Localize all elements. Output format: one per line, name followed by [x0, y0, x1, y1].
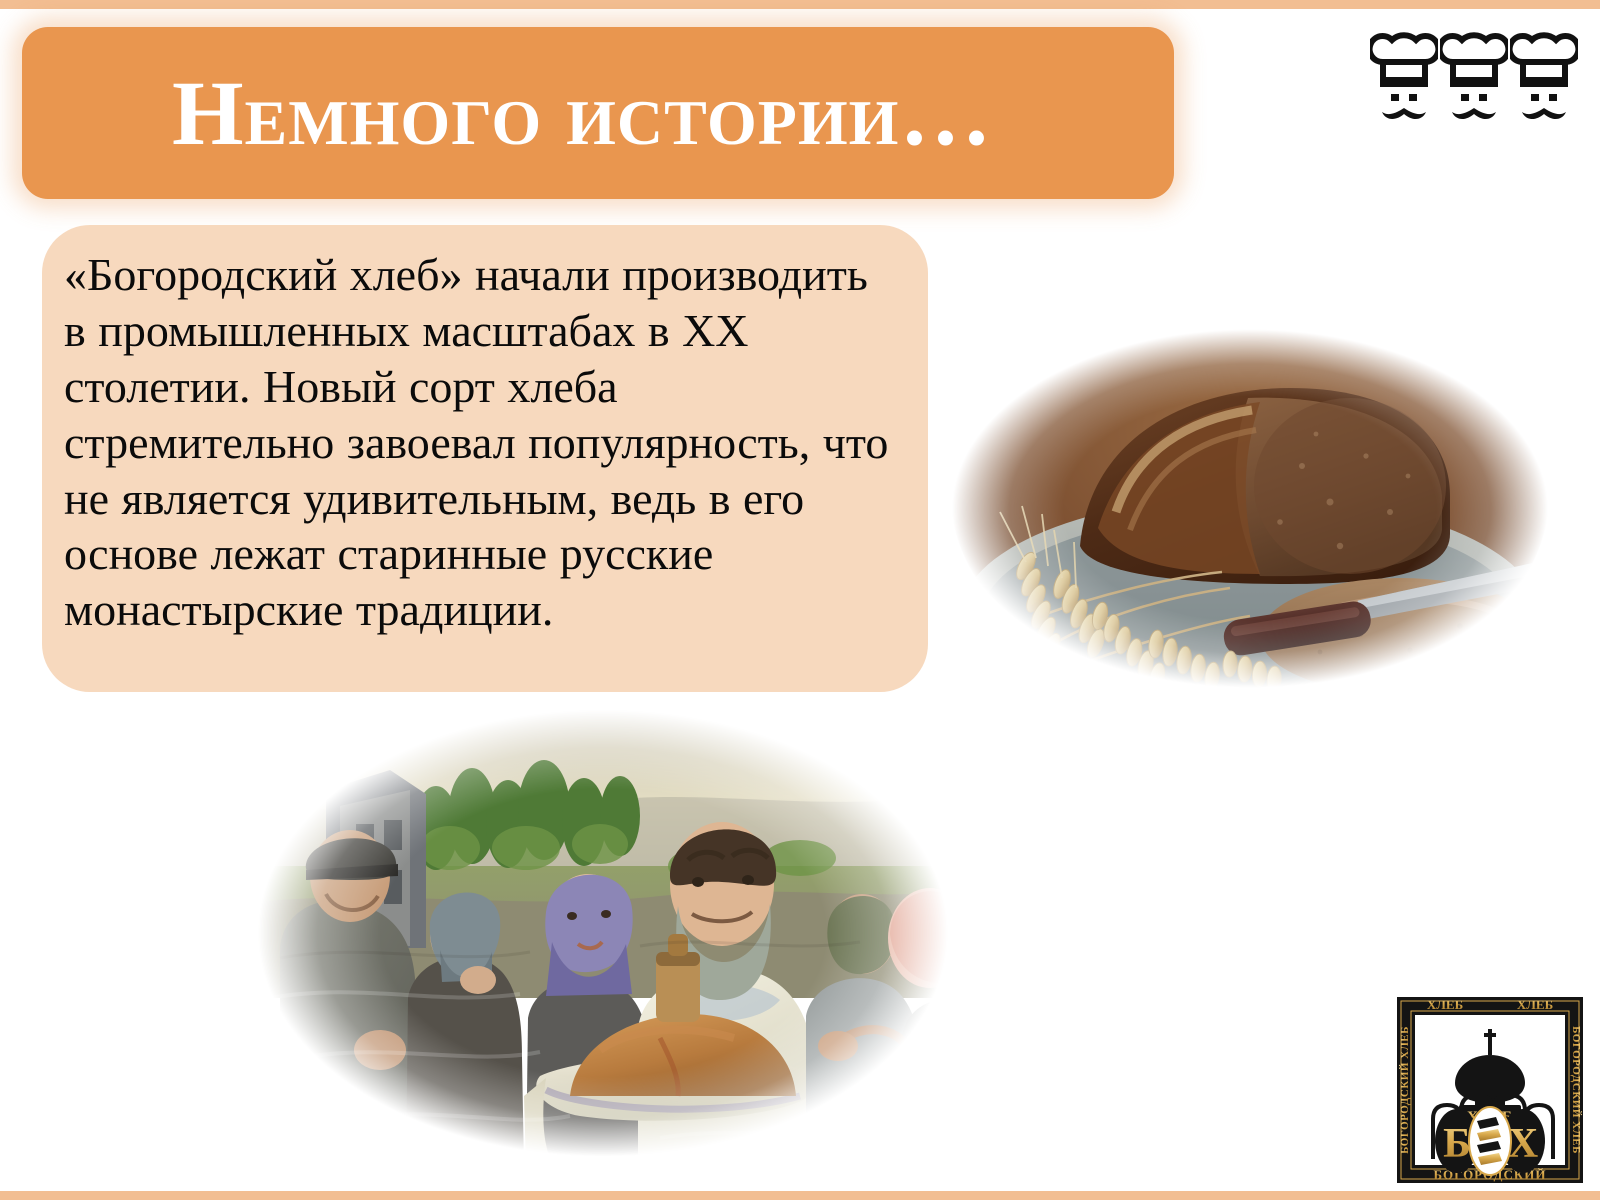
chef-hat-face-icon-2 — [1440, 24, 1508, 129]
logo-top-right-label: ХЛЕБ — [1517, 997, 1553, 1012]
title-banner: Немного истории… — [22, 27, 1174, 199]
slide-root: Немного истории… — [0, 0, 1600, 1200]
chef-hat-icon-group — [1370, 24, 1578, 129]
body-text-card: «Богородский хлеб» начали производить в … — [42, 225, 928, 692]
bread-loaf-photo — [930, 316, 1570, 701]
logo-side-right-label: БОГОРОДСКИЙ ХЛЕБ — [1570, 1026, 1582, 1154]
page-title: Немного истории… — [172, 67, 992, 159]
chef-hat-face-icon-3 — [1510, 24, 1578, 129]
logo-monogram-left: Б — [1443, 1121, 1471, 1167]
body-paragraph: «Богородский хлеб» начали производить в … — [64, 247, 898, 638]
village-bread-painting — [240, 698, 966, 1168]
logo-loaf-icon — [1469, 1107, 1511, 1175]
bottom-accent-strip — [0, 1191, 1600, 1200]
logo-monogram-right: Х — [1508, 1121, 1538, 1167]
top-accent-strip — [0, 0, 1600, 9]
bogorodsky-hleb-logo: ХЛЕБ ХЛЕБ БОГОРОДСКИЙ БОГОРОДСКИЙ ХЛЕБ Б… — [1393, 993, 1587, 1187]
chef-hat-face-icon-1 — [1370, 24, 1438, 129]
logo-side-left-label: БОГОРОДСКИЙ ХЛЕБ — [1399, 1026, 1411, 1154]
logo-top-left-label: ХЛЕБ — [1427, 997, 1463, 1012]
